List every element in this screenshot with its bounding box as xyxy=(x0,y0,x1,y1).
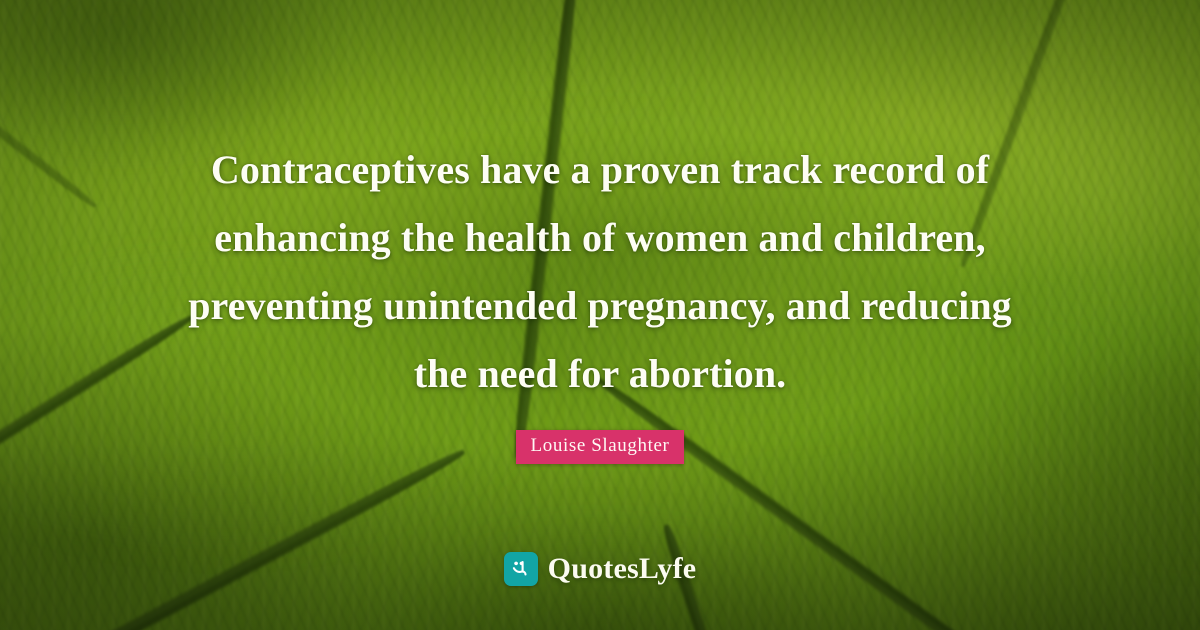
author-badge[interactable]: Louise Slaughter xyxy=(516,430,685,464)
quote-smiley-icon xyxy=(504,552,538,586)
brand-name: QuotesLyfe xyxy=(548,552,697,586)
quote-line-1: Contraceptives have a proven track recor… xyxy=(120,136,1080,204)
card-content: Contraceptives have a proven track recor… xyxy=(0,0,1200,630)
quote-line-2: enhancing the health of women and childr… xyxy=(120,204,1080,272)
quote-line-4: the need for abortion. xyxy=(120,340,1080,408)
brand-logo[interactable]: QuotesLyfe xyxy=(0,552,1200,586)
quote-text: Contraceptives have a proven track recor… xyxy=(120,136,1080,408)
quote-image-card: Contraceptives have a proven track recor… xyxy=(0,0,1200,630)
quote-line-3: preventing unintended pregnancy, and red… xyxy=(120,272,1080,340)
